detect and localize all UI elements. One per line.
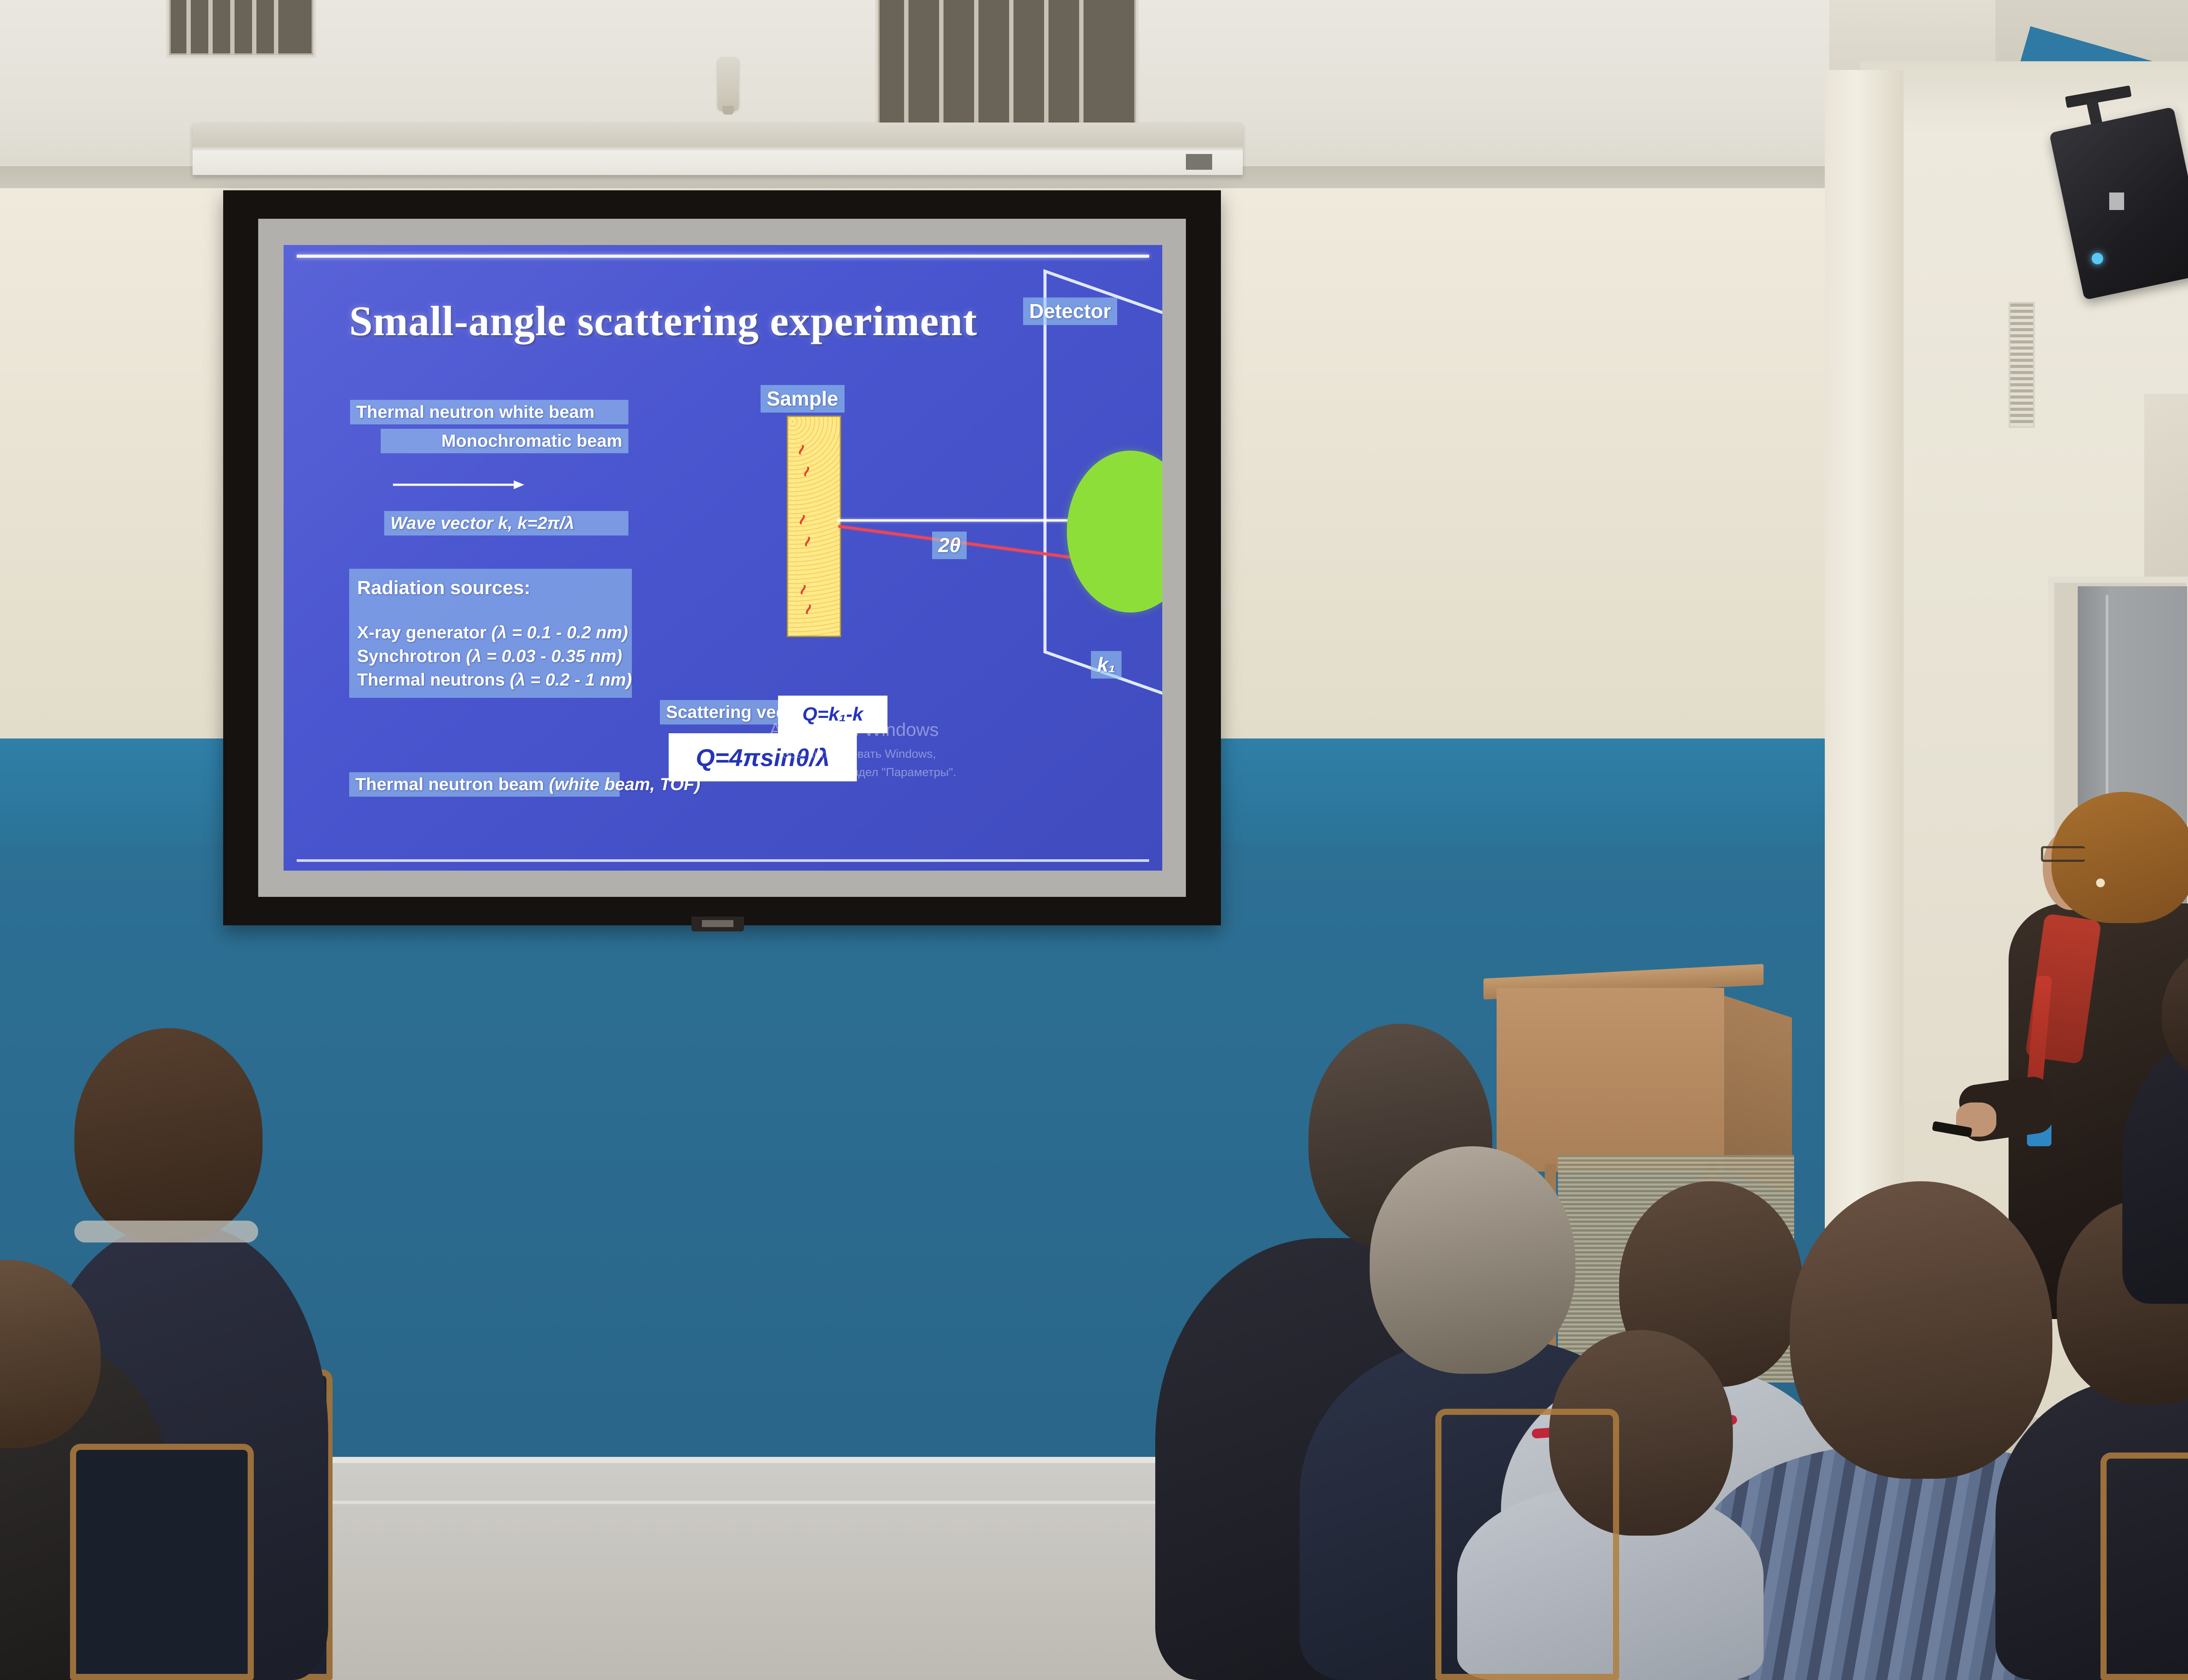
speaker-power-led (2092, 253, 2103, 264)
smoke-detector-icon (718, 57, 739, 109)
lectern-front (1497, 988, 1724, 1172)
ceiling-vent-right (875, 0, 1139, 132)
radiation-sources-heading: Radiation sources: (357, 575, 624, 601)
lecture-room-photo: Small-angle scattering experiment Detect… (0, 0, 2188, 1680)
housing-brand-label (1186, 154, 1212, 170)
glasses-icon (2041, 846, 2085, 862)
screen-housing-case (193, 122, 1243, 175)
label-sample: Sample (761, 385, 845, 413)
radiation-sources-box: Radiation sources: X-ray generator (λ = … (349, 569, 632, 698)
attendee-head (1370, 1146, 1575, 1374)
label-k1: k₁ (1091, 651, 1122, 679)
screen-pull-tab[interactable] (691, 917, 744, 931)
label-wave-vector: Wave vector k, k=2π/λ (384, 511, 628, 535)
radiation-source-row: Synchrotron (λ = 0.03 - 0.35 nm) (357, 644, 624, 668)
label-two-theta: 2θ (932, 532, 967, 559)
attendee-collar (74, 1221, 258, 1242)
sample-slab-icon: ~ ~ ~ ~ ~ ~ (787, 416, 841, 637)
label-monochromatic-beam: Monochromatic beam (381, 429, 628, 453)
radiation-source-row: X-ray generator (λ = 0.1 - 0.2 nm) (357, 621, 624, 644)
chair (2100, 1452, 2188, 1680)
presenter-earring (2096, 878, 2105, 887)
label-detector: Detector (1023, 297, 1117, 325)
radiation-source-row: Thermal neutrons (λ = 0.2 - 1 nm) (357, 668, 624, 692)
label-thermal-neutron-white-beam: Thermal neutron white beam (350, 400, 628, 424)
attendee-head (1790, 1181, 2052, 1479)
ceiling-vent-left (166, 0, 316, 58)
slide-title: Small-angle scattering experiment (349, 297, 1049, 345)
pillar-air-vent (2009, 302, 2035, 428)
windows-activation-watermark-title: Активация Windows (769, 719, 939, 740)
attendee-head (74, 1028, 263, 1242)
projected-slide: Small-angle scattering experiment Detect… (284, 245, 1162, 871)
speaker-logo (2109, 192, 2124, 210)
label-tof-beam: Thermal neutron beam (white beam, TOF) (349, 772, 620, 797)
slide-bottom-rule (297, 859, 1149, 862)
chair (1435, 1409, 1619, 1680)
windows-activation-watermark-line3: перейдите в раздел "Параметры". (769, 766, 956, 779)
beam-direction-arrow-icon (393, 476, 524, 493)
chair (70, 1444, 254, 1680)
windows-activation-watermark-line2: Чтобы активировать Windows, (769, 747, 936, 761)
